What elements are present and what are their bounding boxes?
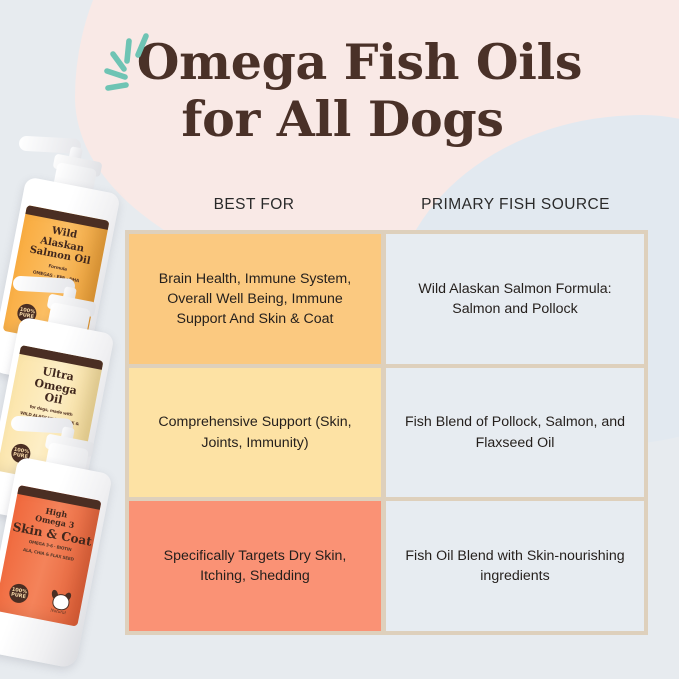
cell-best-for-row-2: Comprehensive Support (Skin, Joints, Imm… <box>129 368 381 498</box>
cell-primary-fish-source-row-3: Fish Oil Blend with Skin-nourishing ingr… <box>386 501 644 631</box>
product-bottle-high-omega-3-skin-and-coat: High Omega 3 Skin & Coat OMEGA 3-6 · BIO… <box>0 423 119 669</box>
cell-primary-fish-source-row-2: Fish Blend of Pollock, Salmon, and Flaxs… <box>386 368 644 498</box>
cell-best-for-row-3: Specifically Targets Dry Skin, Itching, … <box>129 501 381 631</box>
sparkle-burst-icon <box>100 28 176 104</box>
column-header-best-for: BEST FOR <box>125 196 383 214</box>
column-header-primary-fish-source: PRIMARY FISH SOURCE <box>383 196 648 214</box>
label-name-line-3: Oil <box>43 392 63 407</box>
table-row: Specifically Targets Dry Skin, Itching, … <box>129 501 644 631</box>
table-row: Brain Health, Immune System, Overall Wel… <box>129 234 644 364</box>
table-row: Comprehensive Support (Skin, Joints, Imm… <box>129 368 644 498</box>
label-sub-line-1: Formula <box>48 264 67 273</box>
dog-logo-icon: Natural <box>48 590 72 613</box>
cell-primary-fish-source-row-1: Wild Alaskan Salmon Formula: Salmon and … <box>386 234 644 364</box>
comparison-table: Brain Health, Immune System, Overall Wel… <box>125 230 648 635</box>
label-badges: 100% PURE Natural <box>0 580 83 615</box>
cell-best-for-row-1: Brain Health, Immune System, Overall Wel… <box>129 234 381 364</box>
infographic-canvas: Omega Fish Oils for All Dogs Wild Alaska… <box>0 0 679 679</box>
table-column-headers: BEST FOR PRIMARY FISH SOURCE <box>125 196 648 214</box>
purity-seal-icon: 100% PURE <box>8 582 30 604</box>
